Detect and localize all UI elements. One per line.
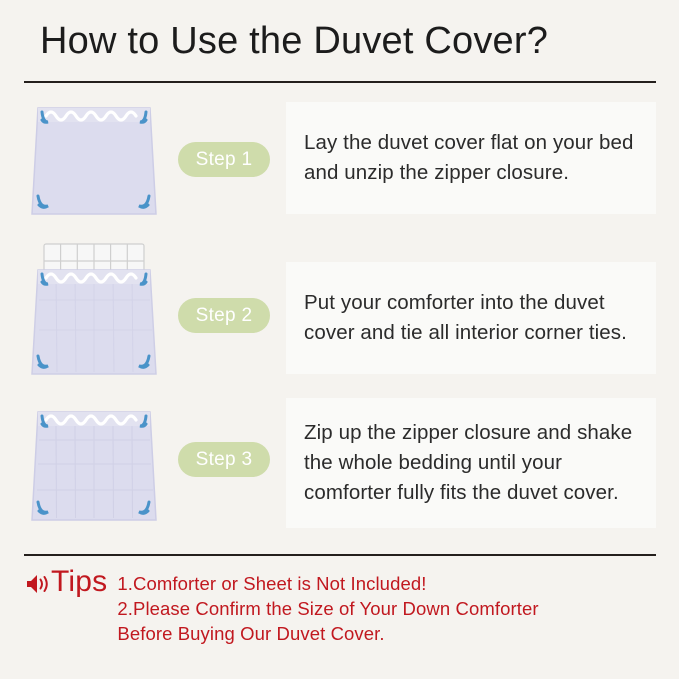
tips-line-2: 2.Please Confirm the Size of Your Down C…	[117, 596, 538, 621]
step-row-2: Step 2 Put your comforter into the duvet…	[0, 240, 679, 380]
step-3-text: Zip up the zipper closure and shake the …	[304, 418, 638, 508]
duvet-cover-filled-icon	[28, 402, 160, 526]
tips-label: Tips	[51, 566, 107, 598]
step-row-1: Step 1 Lay the duvet cover flat on your …	[0, 98, 679, 223]
step-2-illustration	[28, 240, 160, 380]
infographic-page: How to Use the Duvet Cover? Step 1 Lay t…	[0, 0, 679, 679]
step-2-badge: Step 2	[178, 298, 270, 333]
tips-line-1: 1.Comforter or Sheet is Not Included!	[117, 571, 538, 596]
step-2-card: Put your comforter into the duvet cover …	[286, 262, 656, 374]
step-2-text: Put your comforter into the duvet cover …	[304, 288, 638, 348]
step-1-text: Lay the duvet cover flat on your bed and…	[304, 128, 638, 188]
step-1-badge: Step 1	[178, 142, 270, 177]
divider-top	[24, 81, 656, 83]
step-1-card: Lay the duvet cover flat on your bed and…	[286, 102, 656, 214]
tips-line-3: Before Buying Our Duvet Cover.	[117, 621, 538, 646]
speaker-icon	[24, 571, 50, 597]
page-title: How to Use the Duvet Cover?	[40, 20, 640, 63]
step-1-illustration	[28, 100, 160, 220]
divider-bottom	[24, 554, 656, 556]
comforter-into-cover-icon	[28, 240, 160, 380]
duvet-cover-flat-icon	[28, 100, 160, 220]
step-3-card: Zip up the zipper closure and shake the …	[286, 398, 656, 528]
tips-section: Tips 1.Comforter or Sheet is Not Include…	[24, 564, 664, 646]
tips-lines: 1.Comforter or Sheet is Not Included! 2.…	[117, 571, 538, 646]
step-row-3: Step 3 Zip up the zipper closure and sha…	[0, 398, 679, 533]
step-3-illustration	[28, 402, 160, 526]
step-3-badge: Step 3	[178, 442, 270, 477]
